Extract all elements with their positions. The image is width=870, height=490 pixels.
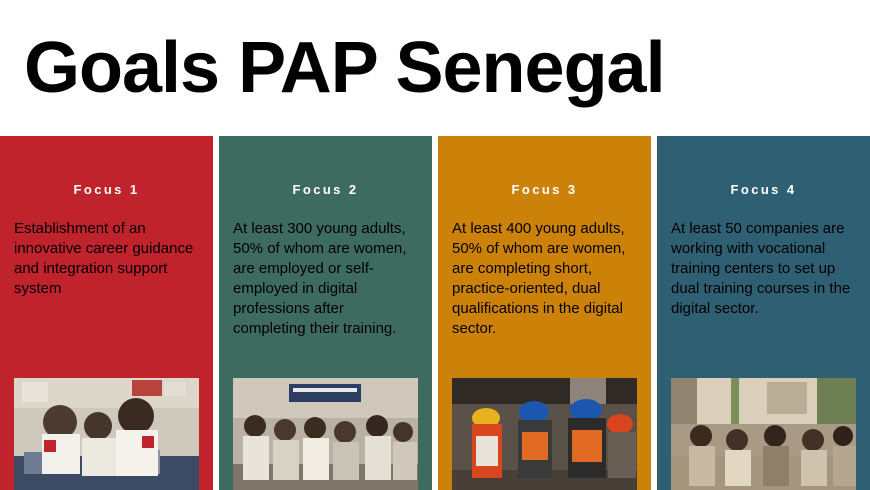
- focus-heading-2: Focus 2: [219, 182, 432, 197]
- focus-body-2: At least 300 young adults, 50% of whom a…: [233, 219, 418, 339]
- title-bar: Goals PAP Senegal: [0, 0, 870, 136]
- focus-heading-3: Focus 3: [438, 182, 651, 197]
- photo-group-event-training-graduates: [233, 378, 418, 490]
- focus-columns: Focus 1 Establishment of an innovative c…: [0, 136, 870, 490]
- slide: Goals PAP Senegal Focus 1 Establishment …: [0, 0, 870, 490]
- focus-heading-1: Focus 1: [0, 182, 213, 197]
- focus-body-1: Establishment of an innovative career gu…: [14, 219, 199, 299]
- photo-art-1: [14, 378, 199, 490]
- focus-body-3: At least 400 young adults, 50% of whom a…: [452, 219, 637, 339]
- photo-career-guidance-counselling-session: [14, 378, 199, 490]
- focus-heading-4: Focus 4: [657, 182, 870, 197]
- focus-column-3: Focus 3 At least 400 young adults, 50% o…: [438, 136, 651, 490]
- focus-column-4: Focus 4 At least 50 companies are workin…: [657, 136, 870, 490]
- photo-technical-workers-hard-hats: [452, 378, 637, 490]
- photo-outdoor-community-gathering: [671, 378, 856, 490]
- focus-body-4: At least 50 companies are working with v…: [671, 219, 856, 319]
- photo-art-4: [671, 378, 856, 490]
- photo-art-3: [452, 378, 637, 490]
- page-title: Goals PAP Senegal: [0, 32, 665, 104]
- focus-column-1: Focus 1 Establishment of an innovative c…: [0, 136, 213, 490]
- focus-column-2: Focus 2 At least 300 young adults, 50% o…: [219, 136, 432, 490]
- photo-art-2: [233, 378, 418, 490]
